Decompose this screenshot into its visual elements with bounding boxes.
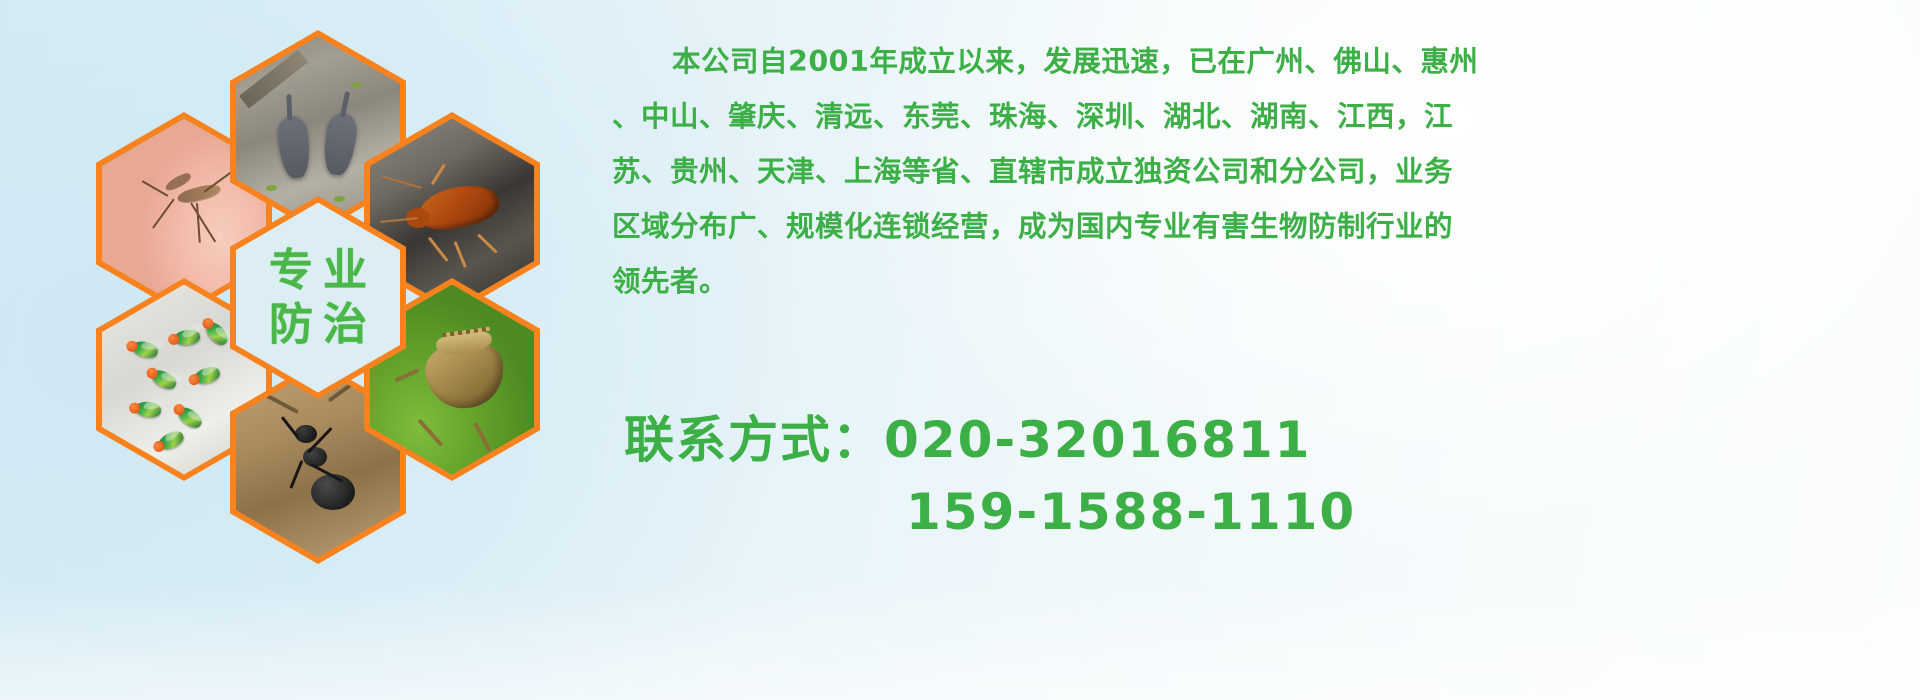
intro-line-3: 苏、贵州、天津、上海等省、直辖市成立独资公司和分公司，业务 — [612, 144, 1864, 199]
company-intro-paragraph: 本公司自2001年成立以来，发展迅速，已在广州、佛山、惠州 、中山、肇庆、清远、… — [612, 34, 1864, 309]
intro-line-2: 、中山、肇庆、清远、东莞、珠海、深圳、湖北、湖南、江西，江 — [612, 89, 1864, 144]
contact-phone-secondary[interactable]: 159-1588-1110 — [624, 476, 1884, 548]
contact-phone-primary[interactable]: 联系方式：020-32016811 — [624, 404, 1884, 476]
logo-text-line-2: 防治 — [259, 303, 377, 347]
text-column: 本公司自2001年成立以来，发展迅速，已在广州、佛山、惠州 、中山、肇庆、清远、… — [612, 0, 1902, 700]
logo-text-line-1: 专业 — [259, 249, 377, 293]
banner-root: 专业 防治 本公司自2001年成立以来，发展迅速，已在广州、佛山、惠州 、中山、… — [0, 0, 1920, 700]
plank-shape — [239, 49, 308, 108]
intro-line-1: 本公司自2001年成立以来，发展迅速，已在广州、佛山、惠州 — [612, 34, 1864, 89]
intro-line-5: 领先者。 — [612, 254, 1864, 309]
contact-block: 联系方式：020-32016811 159-1588-1110 — [624, 404, 1884, 548]
intro-line-4: 区域分布广、规模化连锁经营，成为国内专业有害生物防制行业的 — [612, 199, 1864, 254]
honeycomb-logo: 专业 防治 — [82, 6, 602, 566]
